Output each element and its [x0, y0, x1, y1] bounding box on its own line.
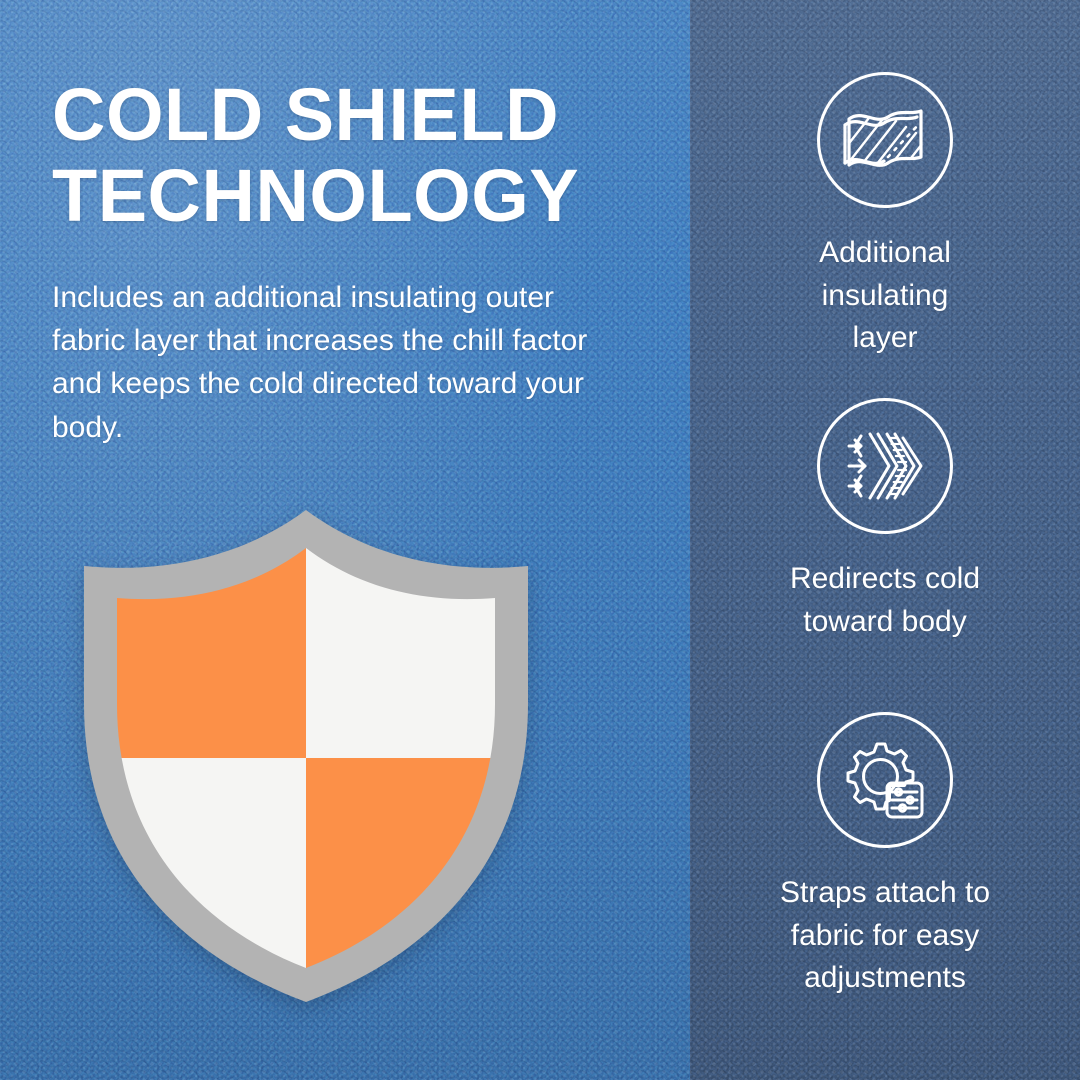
feature-item-redirects-cold-toward-body: Redirects cold toward body	[690, 398, 1080, 643]
fabric-layer-icon	[842, 103, 928, 177]
feature-icon-circle	[817, 712, 953, 848]
feature-label: Straps attach to fabric for easy adjustm…	[720, 872, 1050, 1000]
page-title: COLD SHIELD TECHNOLOGY	[52, 74, 652, 237]
feature-label: Redirects cold toward body	[720, 558, 1050, 643]
gear-settings-sliders-icon	[844, 740, 926, 820]
feature-icon-circle	[817, 398, 953, 534]
layered-chevrons-redirect-icon	[845, 428, 925, 504]
feature-icon-circle	[817, 72, 953, 208]
feature-item-straps-attach-to-fabric: Straps attach to fabric for easy adjustm…	[690, 712, 1080, 1000]
feature-item-additional-insulating-layer: Additional insulating layer	[690, 72, 1080, 360]
shield-emblem	[76, 498, 536, 1008]
description-text: Includes an additional insulating outer …	[52, 276, 622, 449]
feature-label: Additional insulating layer	[720, 232, 1050, 360]
cold-shield-technology-poster: COLD SHIELD TECHNOLOGY Includes an addit…	[0, 0, 1080, 1080]
